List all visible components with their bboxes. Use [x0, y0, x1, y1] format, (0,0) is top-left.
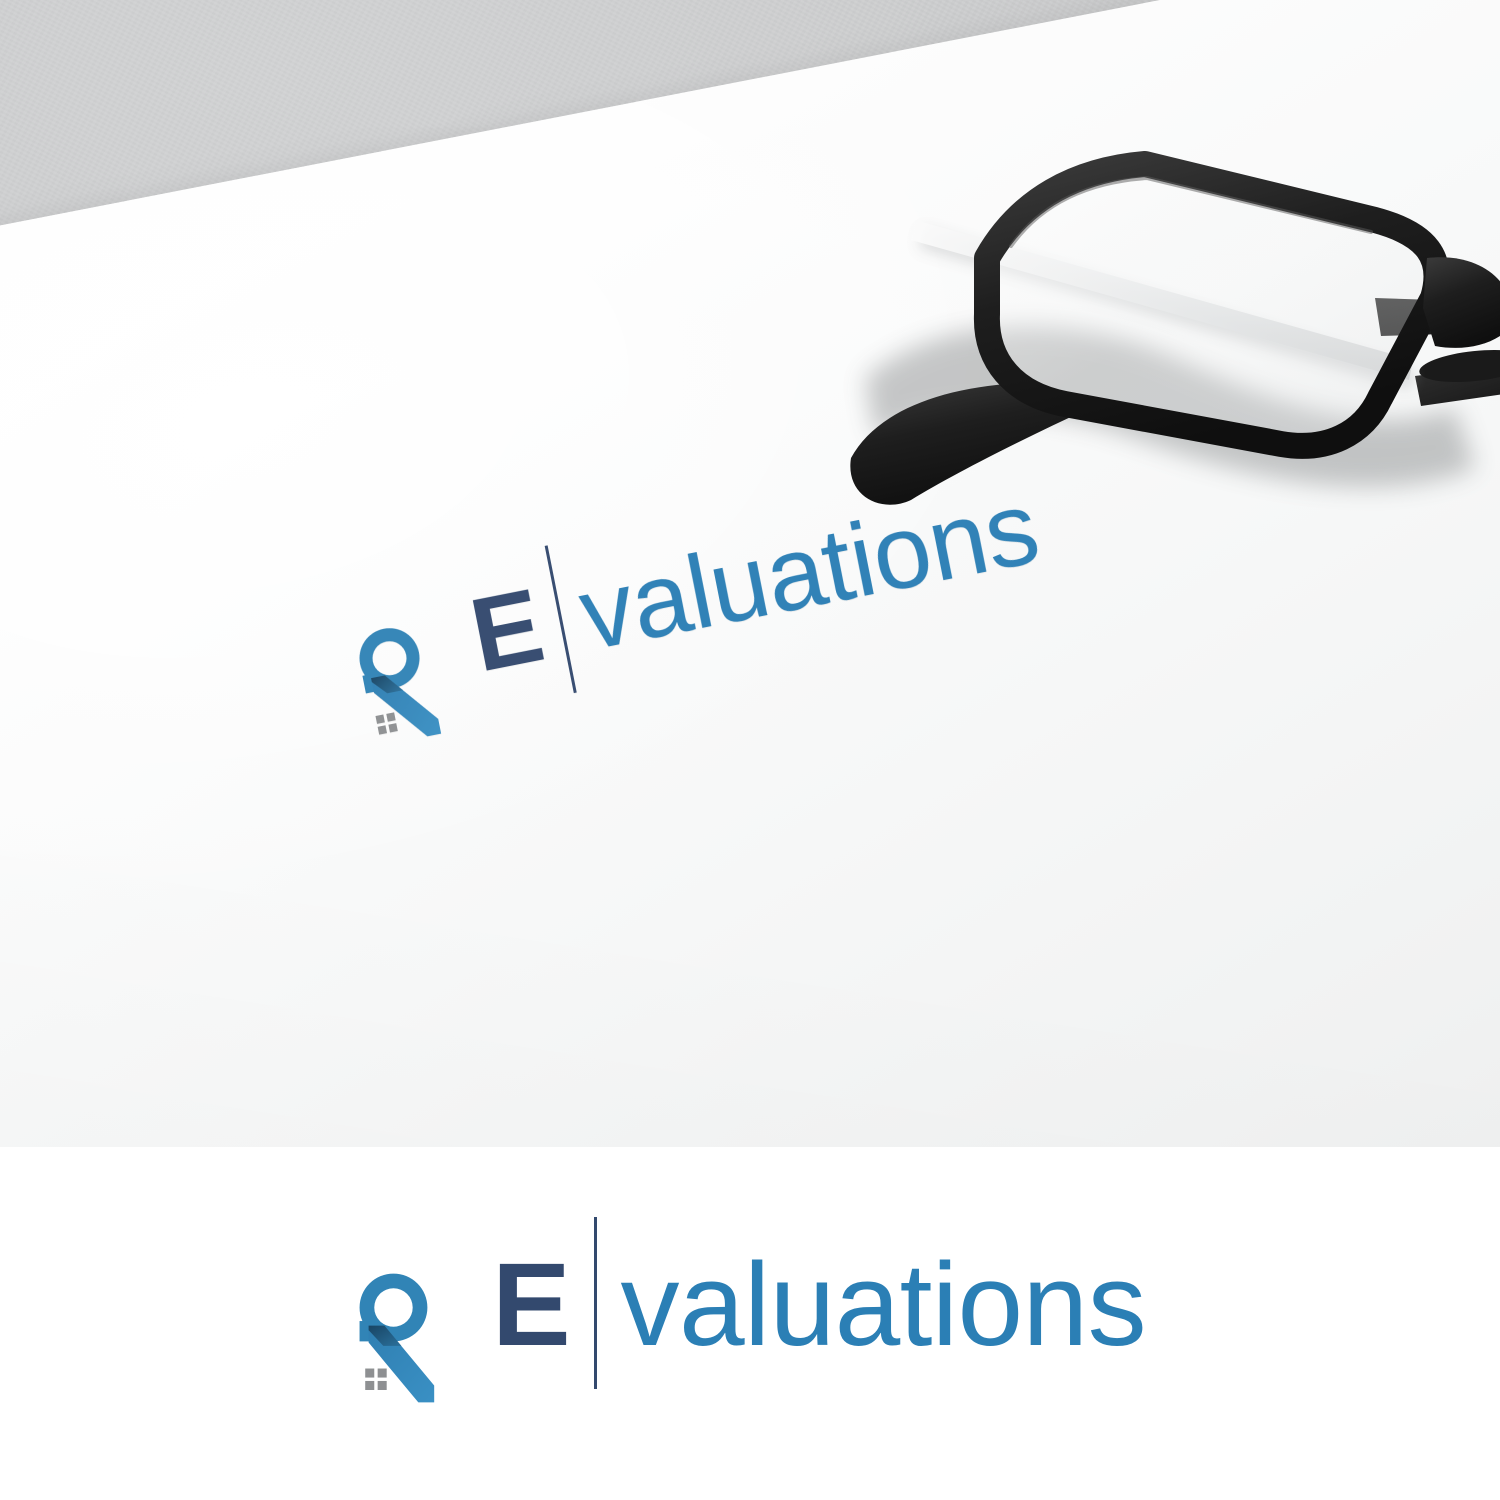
wordmark-primary: E valuations	[492, 1255, 1146, 1389]
photo-mockup-panel: E valuations	[0, 0, 1500, 1147]
logo-showcase-panel: E valuations	[0, 1147, 1500, 1500]
logo-word: valuations	[621, 1255, 1146, 1356]
logo-divider	[594, 1217, 597, 1389]
r-house-mark-icon	[346, 1271, 450, 1405]
logo-letter-e: E	[465, 581, 549, 682]
logo-lockup-primary: E valuations	[346, 1255, 1146, 1405]
logo-letter-e: E	[492, 1255, 570, 1356]
logo-presentation-board: E valuations	[0, 0, 1500, 1500]
logo-showcase-inner: E valuations	[346, 1255, 1146, 1405]
